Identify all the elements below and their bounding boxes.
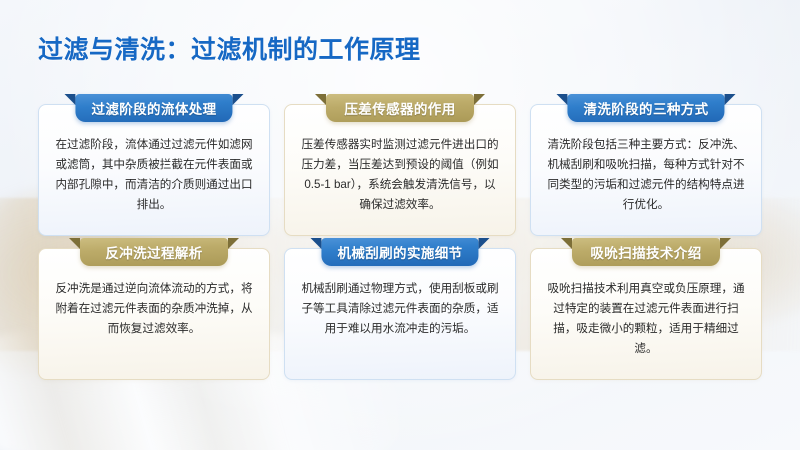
- info-card-3[interactable]: 清洗阶段的三种方式 清洗阶段包括三种主要方式：反冲洗、机械刮刷和吸吮扫描，每种方…: [530, 104, 762, 236]
- card-4-heading-text: 反冲洗过程解析: [105, 242, 202, 262]
- slide-page: 过滤与清洗：过滤机制的工作原理 过滤阶段的流体处理 在过滤阶段，流体通过过滤元件…: [0, 0, 800, 450]
- card-1-heading-banner: 过滤阶段的流体处理: [75, 94, 232, 122]
- card-6-heading-text: 吸吮扫描技术介绍: [590, 242, 701, 262]
- card-2-heading-text: 压差传感器的作用: [344, 98, 455, 118]
- card-1-heading-text: 过滤阶段的流体处理: [91, 98, 216, 118]
- card-3-heading-banner: 清洗阶段的三种方式: [567, 94, 724, 122]
- info-card-1[interactable]: 过滤阶段的流体处理 在过滤阶段，流体通过过滤元件如滤网或滤筒，其中杂质被拦截在元…: [38, 104, 270, 236]
- card-5-heading-banner: 机械刮刷的实施细节: [321, 238, 478, 266]
- card-4-body-text: 反冲洗是通过逆向流体流动的方式，将附着在过滤元件表面的杂质冲洗掉，从而恢复过滤效…: [51, 279, 257, 339]
- card-3-heading-text: 清洗阶段的三种方式: [583, 98, 708, 118]
- card-grid: 过滤阶段的流体处理 在过滤阶段，流体通过过滤元件如滤网或滤筒，其中杂质被拦截在元…: [38, 104, 762, 380]
- card-2-body-text: 压差传感器实时监测过滤元件进出口的压力差，当压差达到预设的阈值（例如0.5-1 …: [297, 135, 503, 215]
- card-5-body-text: 机械刮刷通过物理方式，使用刮板或刷子等工具清除过滤元件表面的杂质，适用于难以用水…: [297, 279, 503, 339]
- info-card-4[interactable]: 反冲洗过程解析 反冲洗是通过逆向流体流动的方式，将附着在过滤元件表面的杂质冲洗掉…: [38, 248, 270, 380]
- card-6-heading-banner: 吸吮扫描技术介绍: [572, 238, 720, 266]
- card-6-body-text: 吸吮扫描技术利用真空或负压原理，通过特定的装置在过滤元件表面进行扫描，吸走微小的…: [543, 279, 749, 359]
- card-5-heading-text: 机械刮刷的实施细节: [337, 242, 462, 262]
- card-4-heading-banner: 反冲洗过程解析: [80, 238, 228, 266]
- card-3-body-text: 清洗阶段包括三种主要方式：反冲洗、机械刮刷和吸吮扫描，每种方式针对不同类型的污垢…: [543, 135, 749, 215]
- card-2-heading-banner: 压差传感器的作用: [326, 94, 474, 122]
- card-1-body-text: 在过滤阶段，流体通过过滤元件如滤网或滤筒，其中杂质被拦截在元件表面或内部孔隙中，…: [51, 135, 257, 215]
- info-card-6[interactable]: 吸吮扫描技术介绍 吸吮扫描技术利用真空或负压原理，通过特定的装置在过滤元件表面进…: [530, 248, 762, 380]
- info-card-2[interactable]: 压差传感器的作用 压差传感器实时监测过滤元件进出口的压力差，当压差达到预设的阈值…: [284, 104, 516, 236]
- info-card-5[interactable]: 机械刮刷的实施细节 机械刮刷通过物理方式，使用刮板或刷子等工具清除过滤元件表面的…: [284, 248, 516, 380]
- page-title: 过滤与清洗：过滤机制的工作原理: [38, 30, 421, 66]
